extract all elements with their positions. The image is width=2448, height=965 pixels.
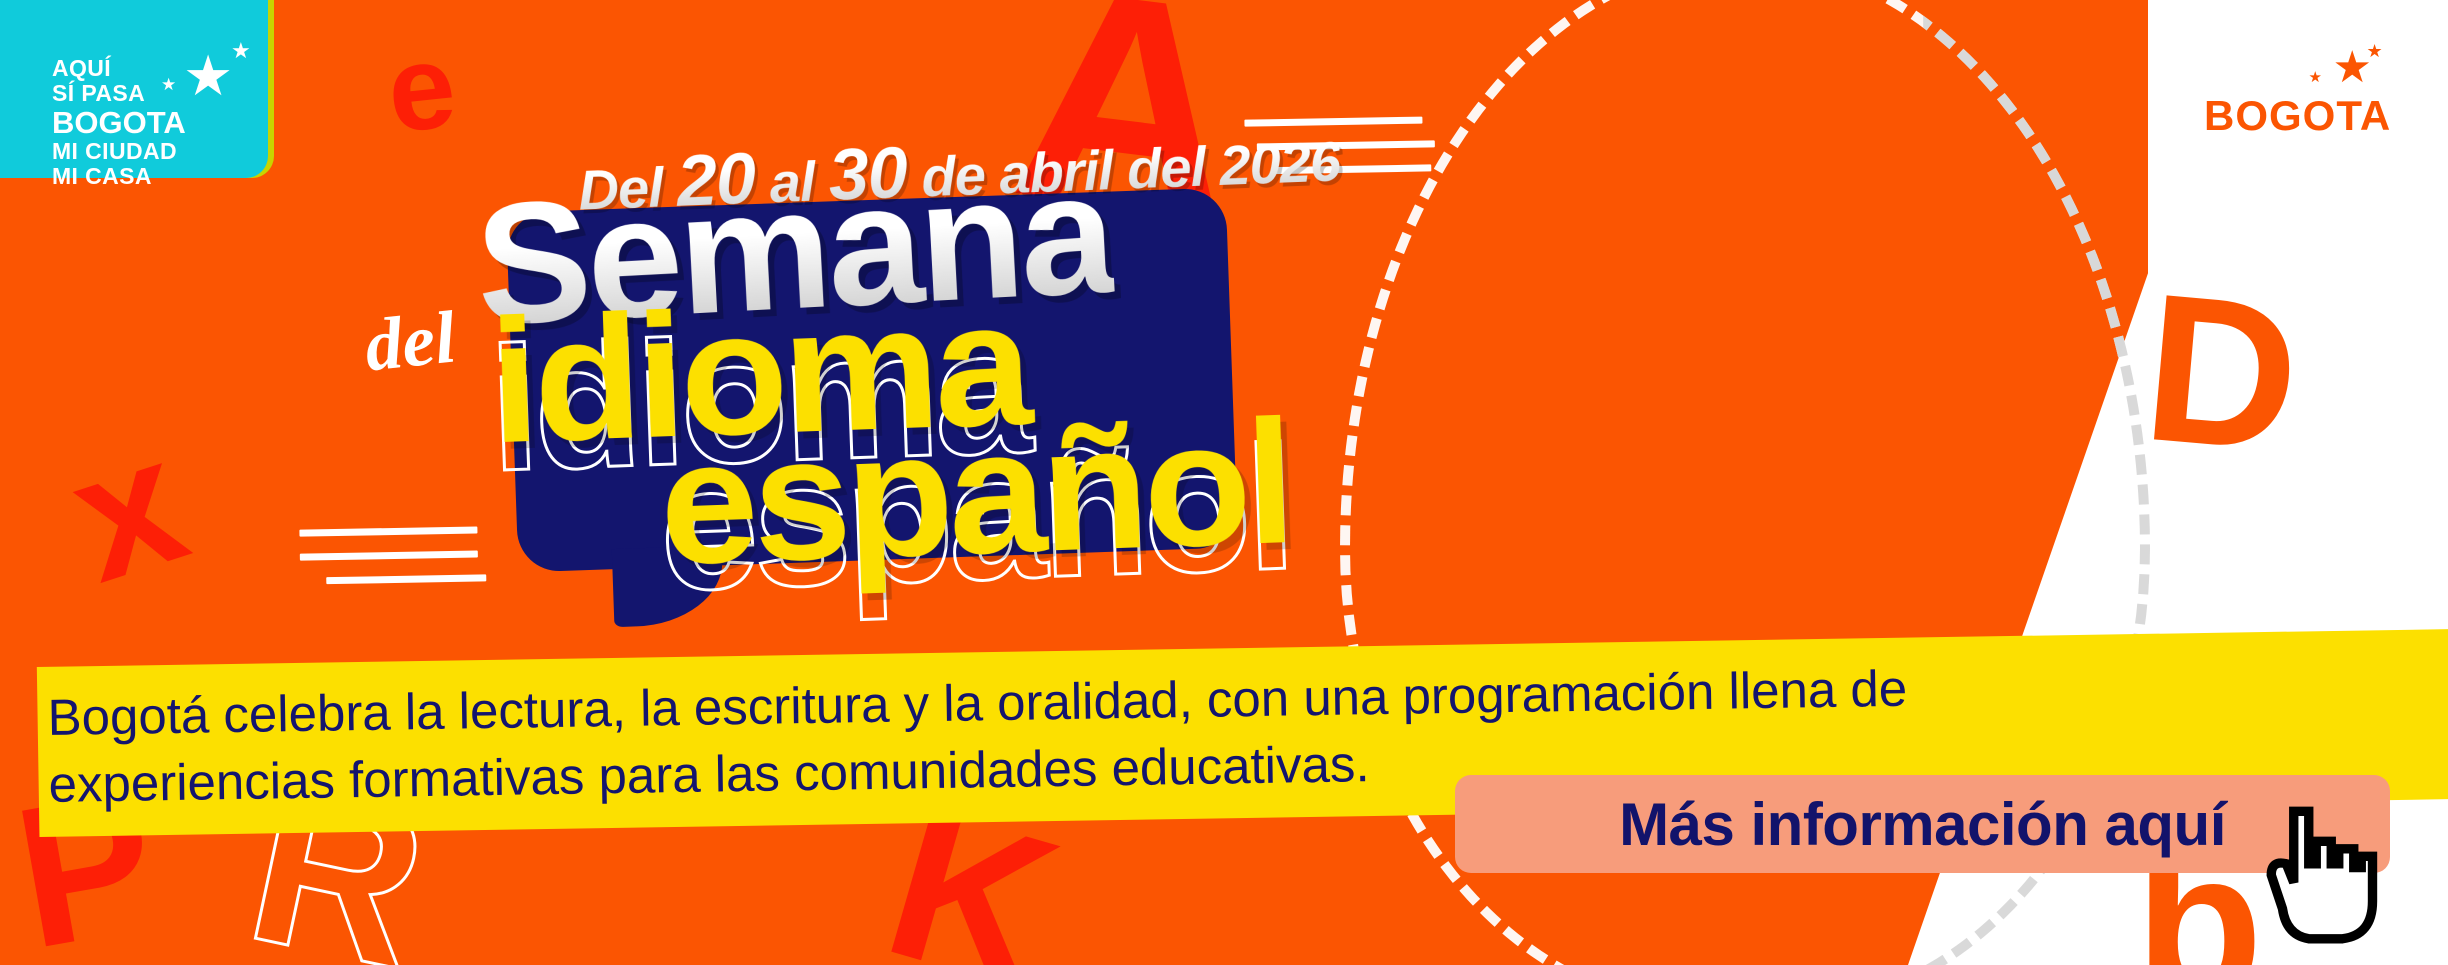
more-info-button[interactable]: Más información aquí — [1455, 775, 2390, 873]
pointing-hand-cursor-icon — [2260, 800, 2380, 950]
title-word-espanol: español — [657, 381, 1294, 605]
headline-block: Del 20 al 30 de abril del 2026 Semana de… — [0, 0, 1400, 660]
campaign-banner: A e x P R K D b — [0, 0, 2448, 965]
star-small-1: ★ — [2367, 42, 2383, 60]
star-small-2: ★ — [2309, 70, 2322, 85]
bogota-star-icon: ★ ★ ★ — [2333, 46, 2372, 90]
bogota-wordmark: BOGOTA — [2204, 92, 2391, 140]
bogota-logo: BOGOTA ★ ★ ★ — [2204, 52, 2394, 140]
title-word-del: del — [361, 296, 460, 390]
more-info-label: Más información aquí — [1619, 790, 2226, 859]
